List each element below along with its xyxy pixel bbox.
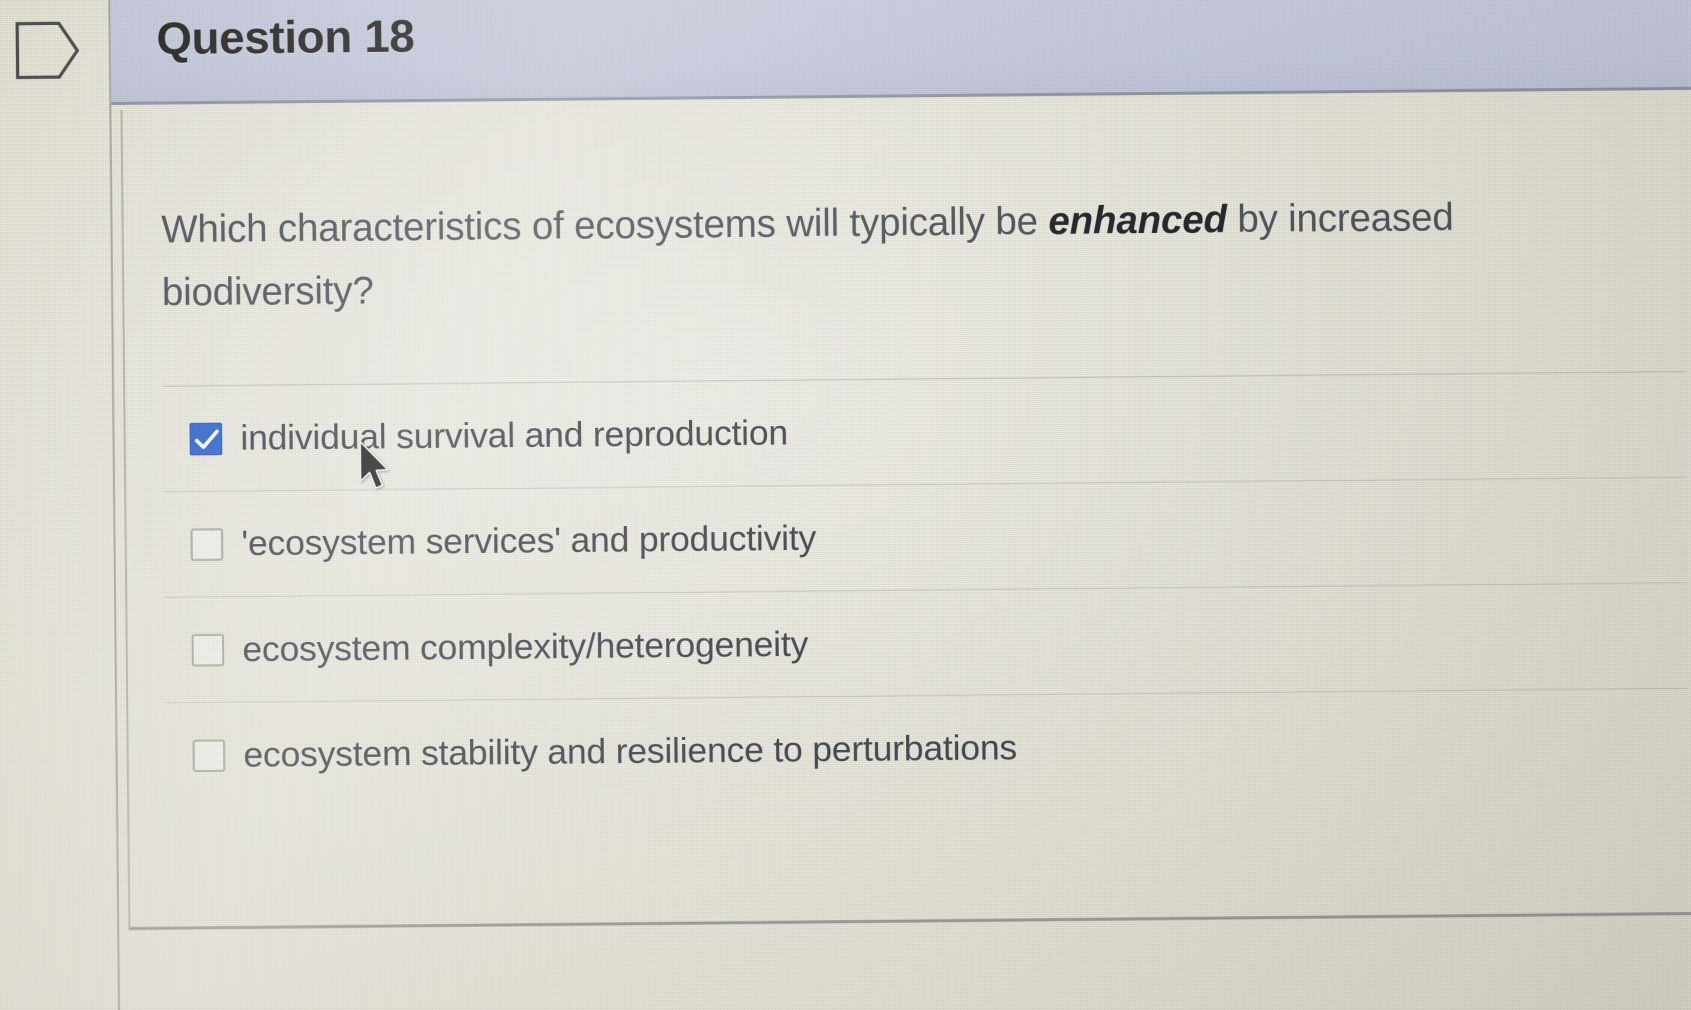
- question-text-before: Which characteristics of ecosystems will…: [161, 201, 1049, 252]
- answer-options-list: individual survival and reproduction 'ec…: [163, 371, 1689, 808]
- quiz-question-ui: Question 18 Which characteristics of eco…: [0, 0, 1691, 1010]
- answer-option-row[interactable]: 'ecosystem services' and productivity: [164, 477, 1687, 597]
- mouse-pointer-icon: [358, 440, 393, 493]
- screen-photo: Question 18 Which characteristics of eco…: [0, 0, 1691, 1010]
- question-content-panel: Which characteristics of ecosystems will…: [121, 95, 1691, 930]
- checkbox-unchecked-icon[interactable]: [193, 739, 226, 772]
- question-header-band: Question 18: [110, 0, 1691, 105]
- checkbox-checked-icon[interactable]: [189, 422, 222, 455]
- question-emphasis: enhanced: [1048, 199, 1227, 243]
- gutter-divider: [108, 0, 120, 1010]
- answer-option-label[interactable]: individual survival and reproduction: [240, 413, 788, 459]
- page-title: Question 18: [156, 10, 415, 65]
- bookmark-flag-icon[interactable]: [14, 20, 82, 82]
- answer-option-label[interactable]: ecosystem stability and resilience to pe…: [243, 727, 1017, 775]
- answer-option-label[interactable]: 'ecosystem services' and productivity: [241, 518, 816, 564]
- question-prompt: Which characteristics of ecosystems will…: [161, 186, 1512, 325]
- answer-option-label[interactable]: ecosystem complexity/heterogeneity: [242, 624, 808, 670]
- checkbox-unchecked-icon[interactable]: [192, 633, 225, 666]
- answer-option-row[interactable]: ecosystem complexity/heterogeneity: [165, 582, 1688, 702]
- answer-option-row[interactable]: ecosystem stability and resilience to pe…: [166, 688, 1689, 808]
- checkbox-unchecked-icon[interactable]: [191, 528, 224, 561]
